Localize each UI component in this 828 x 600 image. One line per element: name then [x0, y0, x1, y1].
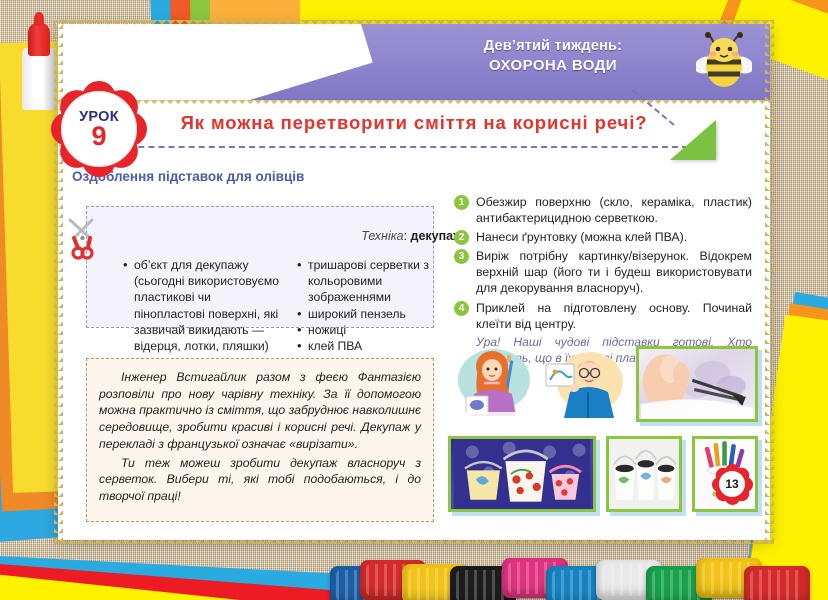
- story-box: Інженер Встигайлик разом з феєю Фантазіє…: [86, 358, 434, 522]
- title-strip: Як можна перетворити сміття на корисні р…: [58, 100, 770, 162]
- step-number: 1: [454, 195, 469, 210]
- theme-title: ОХОРОНА ВОДИ: [388, 57, 718, 74]
- lesson-number: 9: [91, 123, 106, 150]
- green-corner-accent: [670, 120, 716, 160]
- cutting-napkin-photo: [636, 346, 758, 422]
- decorated-buckets-photo: [448, 436, 596, 512]
- materials-right-column: тришарові серветки з кольоровими зображе…: [297, 257, 457, 354]
- materials-left-column: об’єкт для декупажу (сьогодні використов…: [123, 257, 283, 354]
- instruction-steps: 1 Обезжир поверхню (скло, кераміка, плас…: [454, 194, 752, 366]
- step-item: 1 Обезжир поверхню (скло, кераміка, плас…: [454, 194, 752, 226]
- list-item: ножиці: [297, 322, 457, 338]
- girl-with-brush-illustration: [448, 346, 536, 420]
- decorated-containers-photo: [606, 436, 682, 512]
- story-paragraph: Інженер Встигайлик разом з феєю Фантазіє…: [99, 369, 421, 453]
- plasticine-blocks-icon: [330, 534, 828, 600]
- list-item: об’єкт для декупажу (сьогодні використов…: [123, 257, 283, 354]
- step-item: 4 Приклей на підготовлену основу. Почина…: [454, 300, 752, 332]
- step-text: Нанеси ґрунтовку (можна клей ПВА).: [476, 229, 752, 245]
- header-text: Дев’ятий тиждень: ОХОРОНА ВОДИ: [388, 38, 718, 74]
- list-item: широкий пензель: [297, 306, 457, 322]
- lesson-content: Оздоблення підставок для олівців Техніка…: [58, 164, 770, 540]
- page-number-badge: 13: [712, 464, 752, 504]
- header-banner: Дев’ятий тиждень: ОХОРОНА ВОДИ: [58, 24, 770, 100]
- scissors-icon: [66, 216, 100, 260]
- technique-line: Техніка: декупаж: [197, 229, 462, 243]
- list-item: тришарові серветки з кольоровими зображе…: [297, 257, 457, 306]
- list-item: клей ПВА: [297, 338, 457, 354]
- page-number: 13: [719, 471, 745, 497]
- textbook-page-card: Дев’ятий тиждень: ОХОРОНА ВОДИ Як можна …: [58, 24, 770, 540]
- step-text: Приклей на підготовлену основу. Починай …: [476, 300, 752, 332]
- bee-icon: [696, 32, 752, 94]
- step-number: 3: [454, 249, 469, 264]
- week-label: Дев’ятий тиждень:: [388, 38, 718, 54]
- boy-with-napkin-illustration: [544, 348, 626, 420]
- technique-label: Техніка: [361, 229, 403, 243]
- materials-box: Техніка: декупаж об’єкт для декупажу (сь…: [86, 206, 434, 328]
- story-paragraph: Ти теж можеш зробити декупаж власноруч з…: [99, 455, 421, 505]
- step-item: 2 Нанеси ґрунтовку (можна клей ПВА).: [454, 229, 752, 245]
- step-text: Обезжир поверхню (скло, кераміка, пласти…: [476, 194, 752, 226]
- step-item: 3 Виріж потрібну картинку/візерунок. Від…: [454, 248, 752, 296]
- materials-columns: об’єкт для декупажу (сьогодні використов…: [123, 257, 463, 354]
- lesson-badge: УРОК 9: [46, 76, 152, 182]
- step-text: Виріж потрібну картинку/візерунок. Відок…: [476, 248, 752, 296]
- step-number: 2: [454, 230, 469, 245]
- step-number: 4: [454, 301, 469, 316]
